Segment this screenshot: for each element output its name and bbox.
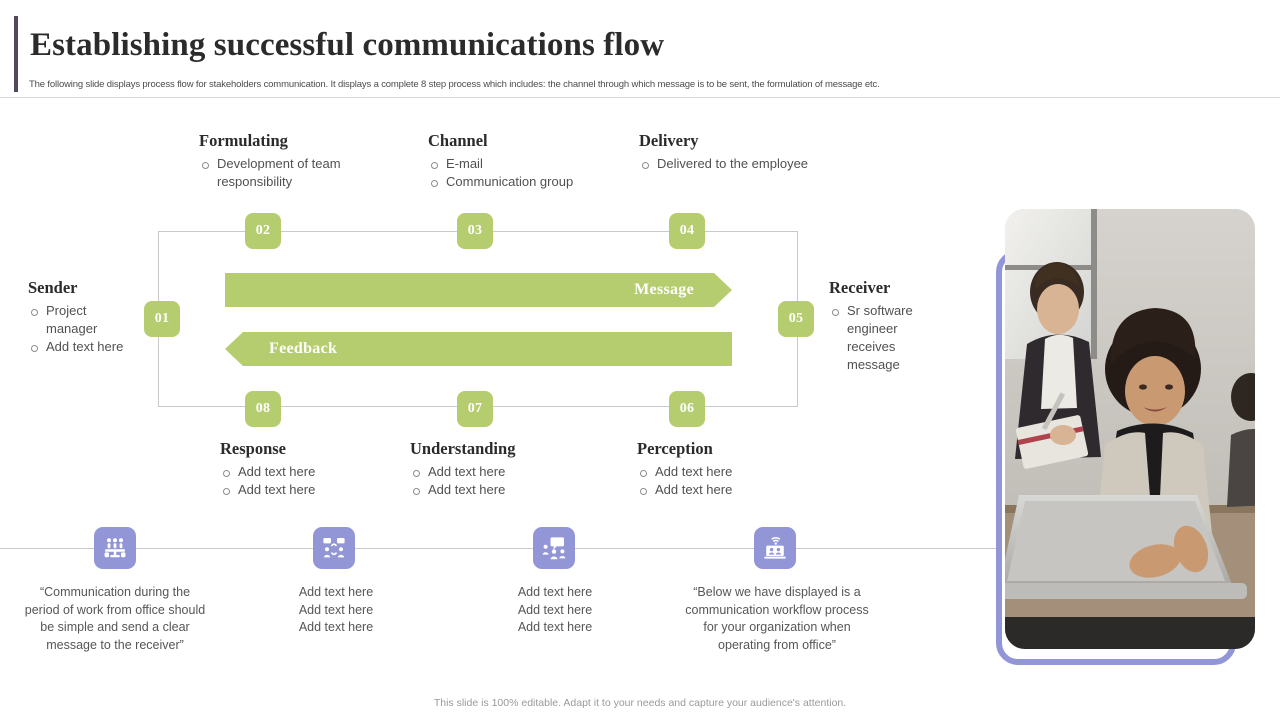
badge-07-number: 07 <box>468 401 483 417</box>
badge-03[interactable]: 03 <box>457 213 493 249</box>
header-accent-bar <box>14 16 18 92</box>
list-item: Add text here <box>410 481 610 499</box>
list-item: Add text here <box>637 481 817 499</box>
slide-root: Establishing successful communications f… <box>0 0 1280 720</box>
list-item: Add text here <box>220 463 400 481</box>
office-photo <box>1005 209 1255 649</box>
step-block-formulating: Formulating Development of team responsi… <box>199 131 389 191</box>
team-network-icon[interactable] <box>313 527 355 569</box>
step-block-understanding: Understanding Add text here Add text her… <box>410 439 610 499</box>
step-title-formulating: Formulating <box>199 131 389 151</box>
step-items-delivery: Delivered to the employee <box>639 155 809 173</box>
badge-08-number: 08 <box>256 401 271 417</box>
list-item: Add text here <box>410 463 610 481</box>
badge-02[interactable]: 02 <box>245 213 281 249</box>
badge-08[interactable]: 08 <box>245 391 281 427</box>
badge-05[interactable]: 05 <box>778 301 814 337</box>
step-items-channel: E-mail Communication group <box>428 155 628 191</box>
step-items-formulating: Development of team responsibility <box>199 155 389 191</box>
remote-work-icon[interactable] <box>754 527 796 569</box>
badge-06-number: 06 <box>680 401 695 417</box>
message-arrow: Message <box>225 273 732 307</box>
badge-04-number: 04 <box>680 223 695 239</box>
step-title-channel: Channel <box>428 131 628 151</box>
step-title-sender: Sender <box>28 278 178 298</box>
badge-07[interactable]: 07 <box>457 391 493 427</box>
step-title-understanding: Understanding <box>410 439 610 459</box>
step-block-receiver: Receiver Sr software engineer receives m… <box>829 278 989 374</box>
list-item: Communication group <box>428 173 628 191</box>
strip-caption-2: Add text here Add text here Add text her… <box>250 584 422 637</box>
strip-caption-3: Add text here Add text here Add text her… <box>469 584 641 637</box>
list-item: Add text here <box>220 481 400 499</box>
step-items-perception: Add text here Add text here <box>637 463 817 499</box>
feedback-arrow: Feedback <box>225 332 732 366</box>
list-item: Delivered to the employee <box>639 155 809 173</box>
badge-01-number: 01 <box>155 311 170 327</box>
strip-divider-line <box>0 548 1000 549</box>
strip-caption-1: “Communication during the period of work… <box>24 584 206 654</box>
badge-01[interactable]: 01 <box>144 301 180 337</box>
step-block-perception: Perception Add text here Add text here <box>637 439 817 499</box>
list-item: Add text here <box>28 338 178 356</box>
meeting-table-icon[interactable] <box>94 527 136 569</box>
badge-02-number: 02 <box>256 223 271 239</box>
message-arrow-label: Message <box>634 281 694 299</box>
badge-05-number: 05 <box>789 311 804 327</box>
step-block-delivery: Delivery Delivered to the employee <box>639 131 809 173</box>
step-title-response: Response <box>220 439 400 459</box>
step-title-receiver: Receiver <box>829 278 989 298</box>
list-item: Add text here <box>637 463 817 481</box>
feedback-arrow-label: Feedback <box>269 340 337 358</box>
header-divider <box>0 97 1280 98</box>
step-title-perception: Perception <box>637 439 817 459</box>
strip-caption-4: “Below we have displayed is a communicat… <box>682 584 872 654</box>
badge-03-number: 03 <box>468 223 483 239</box>
process-frame <box>158 231 798 407</box>
list-item: E-mail <box>428 155 628 173</box>
badge-06[interactable]: 06 <box>669 391 705 427</box>
step-block-response: Response Add text here Add text here <box>220 439 400 499</box>
step-title-delivery: Delivery <box>639 131 809 151</box>
badge-04[interactable]: 04 <box>669 213 705 249</box>
footer-note: This slide is 100% editable. Adapt it to… <box>0 697 1280 709</box>
step-block-channel: Channel E-mail Communication group <box>428 131 628 191</box>
page-subtitle: The following slide displays process flo… <box>29 79 1209 90</box>
list-item: Development of team responsibility <box>199 155 389 191</box>
team-chat-icon[interactable] <box>533 527 575 569</box>
step-items-receiver: Sr software engineer receives message <box>829 302 989 374</box>
step-items-response: Add text here Add text here <box>220 463 400 499</box>
step-items-understanding: Add text here Add text here <box>410 463 610 499</box>
list-item: Sr software engineer receives message <box>829 302 949 374</box>
list-item: Project manager <box>28 302 104 338</box>
page-title: Establishing successful communications f… <box>30 27 664 64</box>
